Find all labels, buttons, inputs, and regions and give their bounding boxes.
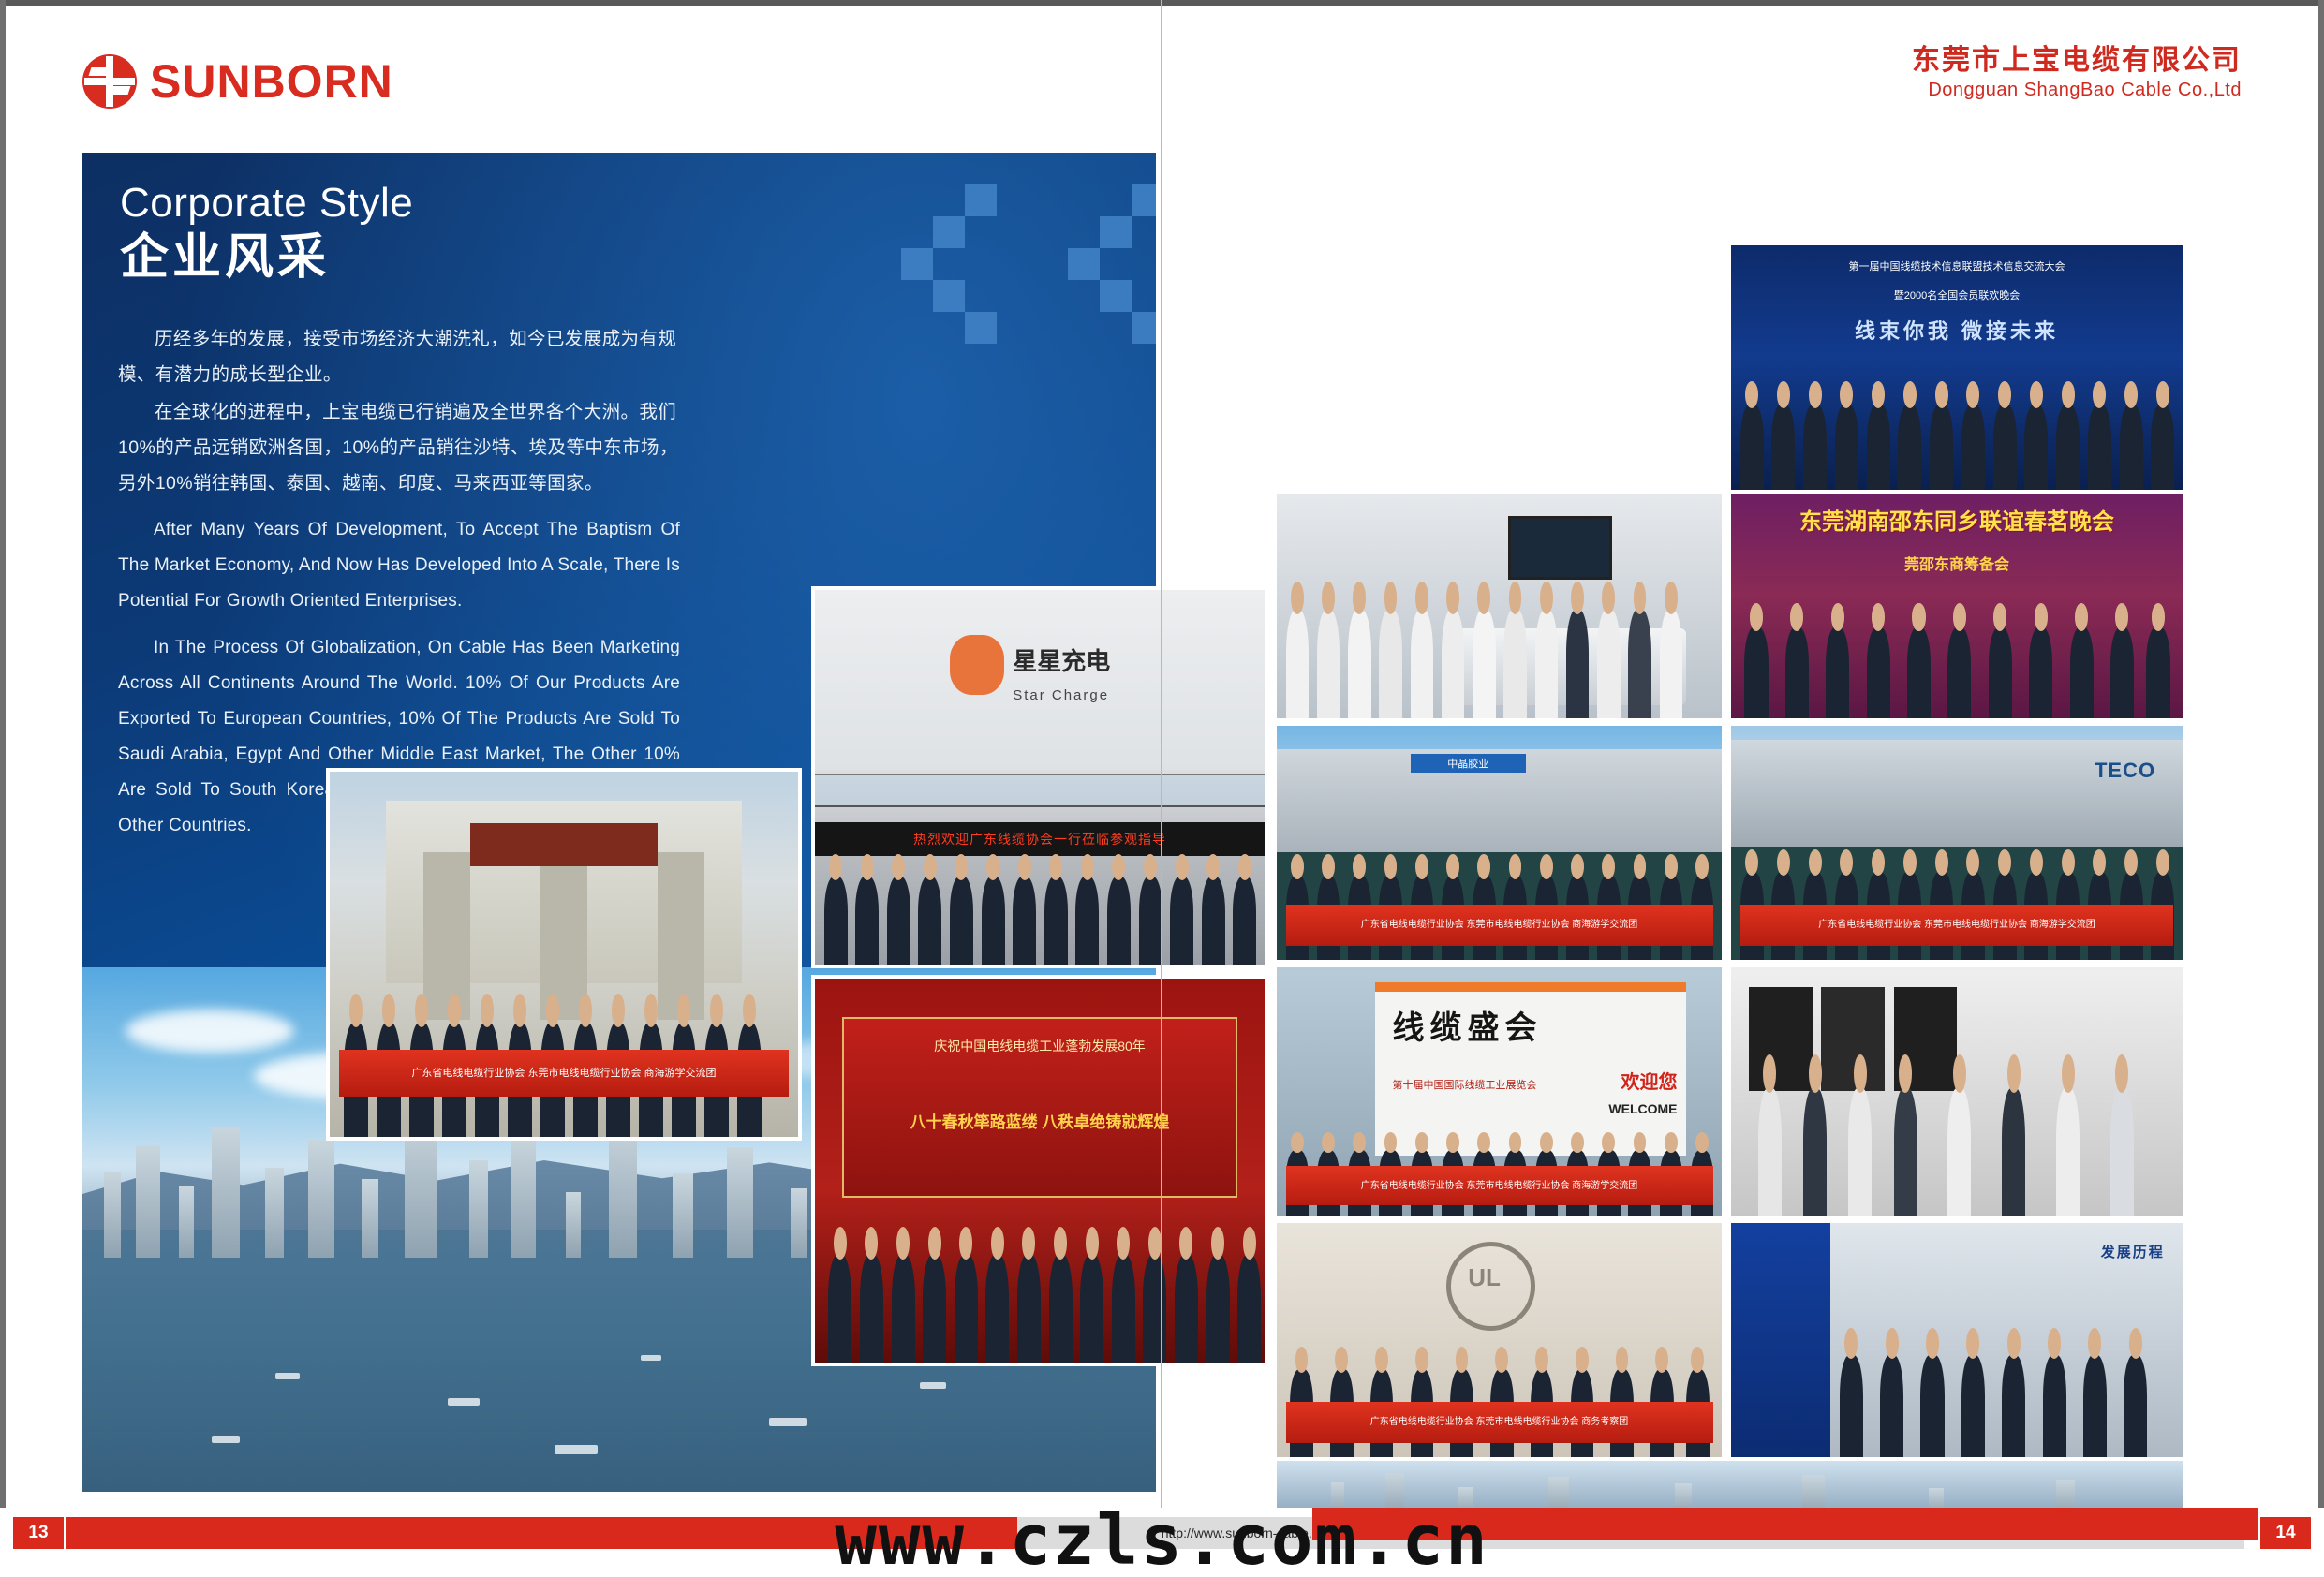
photo-factory-front-group[interactable]: 中晶胶业 广东省电线电缆行业协会 东莞市电线电缆行业协会 商海游学交流团 [1277,726,1722,960]
logo-wordmark: SUNBORN [150,54,393,109]
photo-banner-text: 广东省电线电缆行业协会 东莞市电线电缆行业协会 商海游学交流团 [1286,1166,1713,1205]
sunborn-circle-mark-icon [82,54,137,109]
page-number-right: 14 [2260,1517,2311,1549]
photo-showroom-visit[interactable] [1277,494,1722,718]
photo-expo-title: 线缆盛会 [1393,1002,1543,1048]
photo-dinner-subtitle: 莞邵东商筹备会 [1776,552,2138,574]
photo-expo-welcome-en: WELCOME [1608,1101,1677,1116]
page-title-en: Corporate Style [120,181,413,226]
photo-cable-tech-alliance-conference[interactable]: 第一届中国线缆技术信息联盟技术信息交流大会 暨2000名全国会员联欢晚会 线束你… [1731,245,2183,494]
photo-anniv-title: 庆祝中国电线电缆工业蓬勃发展80年 [851,1037,1228,1055]
photo-sign-cn: 星星充电 [1013,642,1110,677]
photo-conf-title: 第一届中国线缆技术信息联盟技术信息交流大会 [1785,260,2128,274]
page-title-cn: 企业风采 [120,231,413,285]
photo-teco-sign: TECO [2095,759,2155,783]
pixel-chevron-decoration [860,171,1156,377]
photo-company-gate-visit[interactable]: 广东省电线电缆行业协会 东莞市电线电缆行业协会 商海游学交流团 [330,772,798,1137]
photo-anniv-subtitle: 八十春秋筚路蓝缕 八秩卓绝铸就辉煌 [851,1109,1228,1132]
photo-expo-subtitle: 第十届中国国际线缆工业展览会 [1393,1077,1537,1092]
paragraph-en-1: After Many Years Of Development, To Acce… [118,512,680,619]
page-title: Corporate Style 企业风采 [120,181,413,286]
company-name-cn: 东莞市上宝电缆有限公司 [1912,45,2242,78]
photo-gallery-walkthrough[interactable] [1731,967,2183,1216]
photo-teco-visit-group[interactable]: TECO 广东省电线电缆行业协会 东莞市电线电缆行业协会 商海游学交流团 [1731,726,2183,960]
photo-ul-sign: UL [1468,1263,1501,1292]
photo-banner-text: 广东省电线电缆行业协会 东莞市电线电缆行业协会 商海游学交流团 [1286,905,1713,946]
photo-conf-subtitle: 暨2000名全国会员联欢晚会 [1785,287,2128,302]
photo-led-banner: 热烈欢迎广东线缆协会一行莅临参观指导 [913,830,1166,848]
photo-banner-text: 广东省电线电缆行业协会 东莞市电线电缆行业协会 商海游学交流团 [1740,905,2174,946]
photo-factory-sign: 中晶胶业 [1411,754,1527,773]
photo-80th-anniversary[interactable]: 庆祝中国电线电缆工业蓬勃发展80年 八十春秋筚路蓝缕 八秩卓绝铸就辉煌 [815,979,1265,1363]
photo-banner-text: 广东省电线电缆行业协会 东莞市电线电缆行业协会 商务考察团 [1286,1402,1713,1443]
page-number-left: 13 [13,1517,64,1549]
sunborn-logo: SUNBORN [82,54,393,109]
paragraph-cn-1: 历经多年的发展，接受市场经济大潮洗礼，如今已发展成为有规模、有潜力的成长型企业。 [118,321,680,392]
photo-sign-en: Star Charge [1013,687,1109,703]
photo-expo-welcome-cn: 欢迎您 [1621,1067,1678,1094]
photo-banner-text: 广东省电线电缆行业协会 东莞市电线电缆行业协会 商海游学交流团 [339,1050,789,1097]
page-edge-right [2318,0,2324,1577]
photo-ul-meeting-room[interactable]: UL 广东省电线电缆行业协会 东莞市电线电缆行业协会 商务考察团 [1277,1223,1722,1457]
paragraph-cn-2: 在全球化的进程中，上宝电缆已行销遍及全世界各个大洲。我们10%的产品远销欧洲各国… [118,394,680,501]
photo-development-history-wall[interactable]: 发展历程 [1731,1223,2183,1457]
company-identity: 东莞市上宝电缆有限公司 Dongguan ShangBao Cable Co.,… [1912,45,2242,101]
photo-dinner-title: 东莞湖南邵东同乡联谊春茗晚会 [1740,503,2174,536]
photo-hunan-shaodong-fellowship-dinner[interactable]: 东莞湖南邵东同乡联谊春茗晚会 莞邵东商筹备会 [1731,494,2183,718]
brochure-spread: SUNBORN 东莞市上宝电缆有限公司 Dongguan ShangBao Ca… [0,0,2324,1577]
spread-gutter [1161,0,1162,1577]
site-watermark: www.czls.com.cn [835,1500,1488,1577]
company-name-en: Dongguan ShangBao Cable Co.,Ltd [1912,80,2242,101]
intro-copy: 历经多年的发展，接受市场经济大潮洗礼，如今已发展成为有规模、有潜力的成长型企业。… [118,321,680,844]
photo-star-charge-visit[interactable]: 星星充电 Star Charge 热烈欢迎广东线缆协会一行莅临参观指导 [815,590,1265,965]
photo-conf-slogan: 线束你我 微接未来 [1794,315,2119,345]
photo-wire-cable-expo-welcome[interactable]: 线缆盛会 第十届中国国际线缆工业展览会 欢迎您 WELCOME 广东省电线电缆行… [1277,967,1722,1216]
page-edge-left [0,0,6,1577]
photo-history-title: 发展历程 [2101,1242,2165,1261]
